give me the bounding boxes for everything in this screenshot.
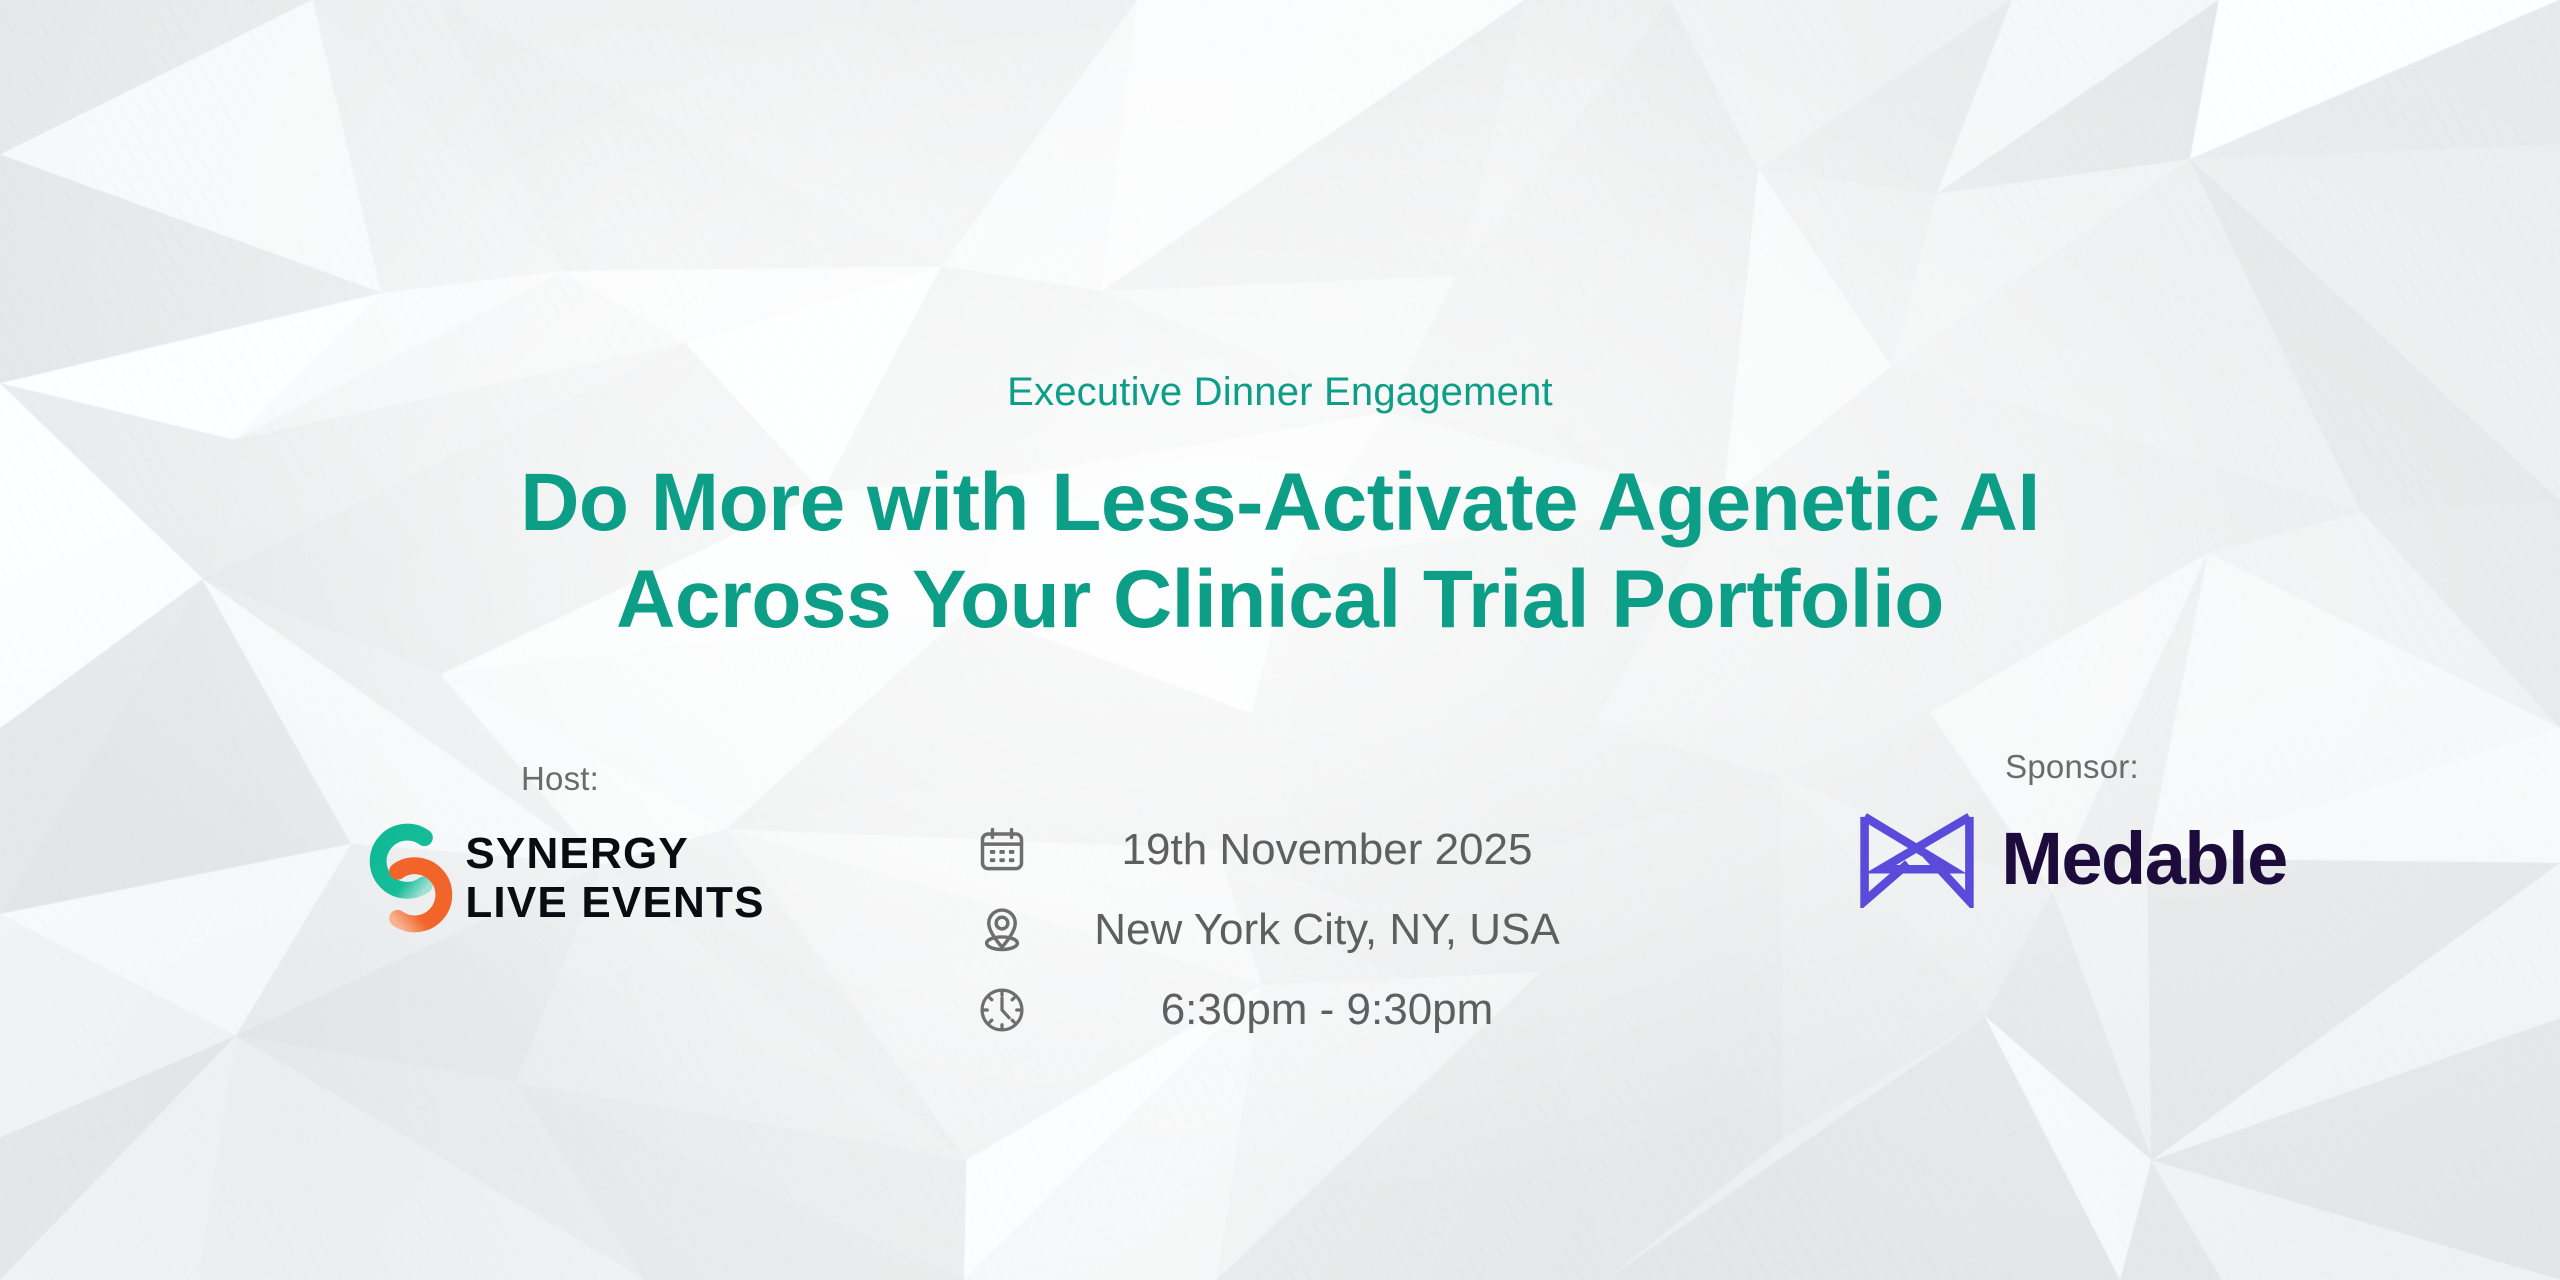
synergy-wordmark-line-1: SYNERGY [465,829,689,878]
synergy-live-events-logo: SYNERGY LIVE EVENTS [300,822,820,934]
detail-text-time: 6:30pm - 9:30pm [1067,985,1587,1035]
medable-logo: Medable [1802,810,2342,908]
event-details-list: 19th November 2025 New York City, NY, US… [973,818,1587,1042]
detail-text-location: New York City, NY, USA [1067,905,1587,955]
detail-text-date: 19th November 2025 [1067,825,1587,875]
event-eyebrow: Executive Dinner Engagement [0,370,2560,415]
location-pin-icon [973,901,1031,959]
synergy-wordmark: SYNERGY LIVE EVENTS [465,829,764,928]
event-headline: Do More with Less-Activate Agenetic AI A… [0,455,2560,649]
banner-content: Executive Dinner Engagement Do More with… [0,0,2560,1280]
host-label: Host: [300,760,820,798]
calendar-icon [973,821,1031,879]
medable-wordmark: Medable [2001,822,2287,896]
synergy-s-mark-icon [355,822,467,934]
detail-row-date: 19th November 2025 [973,818,1587,882]
detail-row-location: New York City, NY, USA [973,898,1587,962]
synergy-wordmark-line-2: LIVE EVENTS [465,878,764,927]
sponsor-block: Sponsor: Medable [1802,748,2342,908]
detail-row-time: 6:30pm - 9:30pm [973,978,1587,1042]
banner-lower-band: Host: [0,740,2560,1160]
host-block: Host: [300,760,820,934]
sponsor-label: Sponsor: [1802,748,2342,786]
headline-line-2: Across Your Clinical Trial Portfolio [0,552,2560,649]
headline-line-1: Do More with Less-Activate Agenetic AI [0,455,2560,552]
clock-icon [973,981,1031,1039]
medable-bowtie-mark-icon [1857,810,1977,908]
